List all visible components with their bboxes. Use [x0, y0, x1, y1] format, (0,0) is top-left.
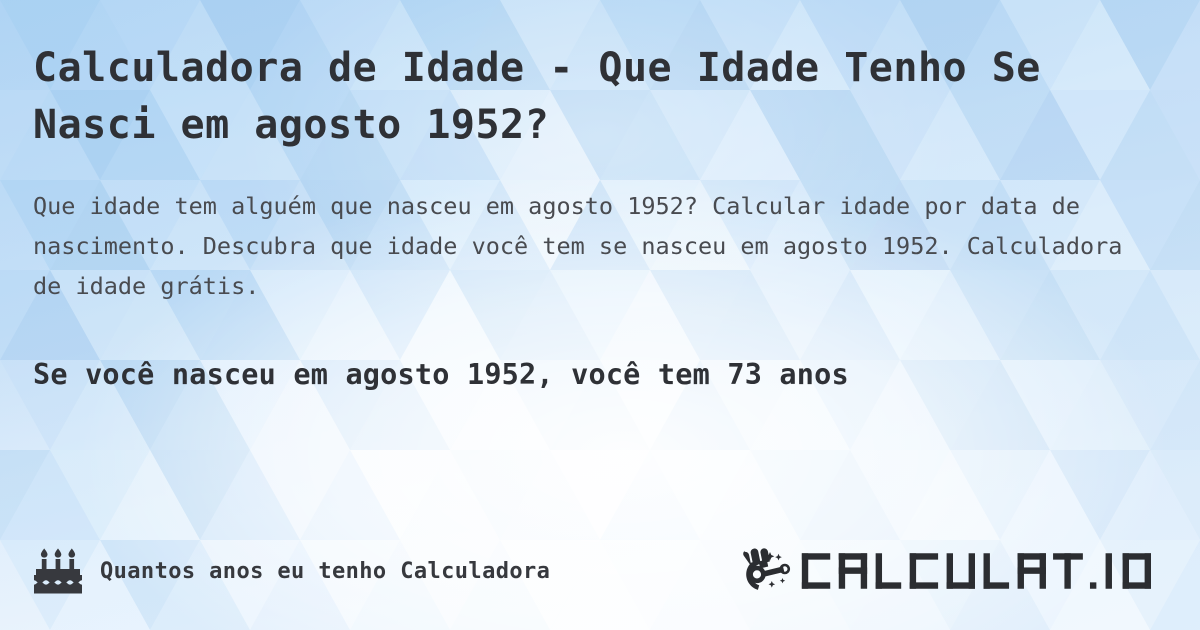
footer-bar: Quantos anos eu tenho Calculadora [0, 530, 1200, 630]
share-card: Calculadora de Idade - Que Idade Tenho S… [0, 0, 1200, 630]
logo-wordmark: CALCULAT.IO [799, 549, 1168, 593]
page-title: Calculadora de Idade - Que Idade Tenho S… [33, 40, 1093, 154]
hand-magic-wand-icon [735, 548, 791, 594]
site-logo[interactable]: CALCULAT.IO [735, 548, 1168, 594]
content-area: Calculadora de Idade - Que Idade Tenho S… [0, 0, 1200, 630]
footer-brand: Quantos anos eu tenho Calculadora [32, 548, 550, 594]
age-answer-text: Se você nasceu em agosto 1952, você tem … [33, 355, 1173, 395]
birthday-cake-icon [32, 548, 84, 594]
page-description: Que idade tem alguém que nasceu em agost… [33, 186, 1138, 306]
footer-label: Quantos anos eu tenho Calculadora [100, 559, 550, 584]
